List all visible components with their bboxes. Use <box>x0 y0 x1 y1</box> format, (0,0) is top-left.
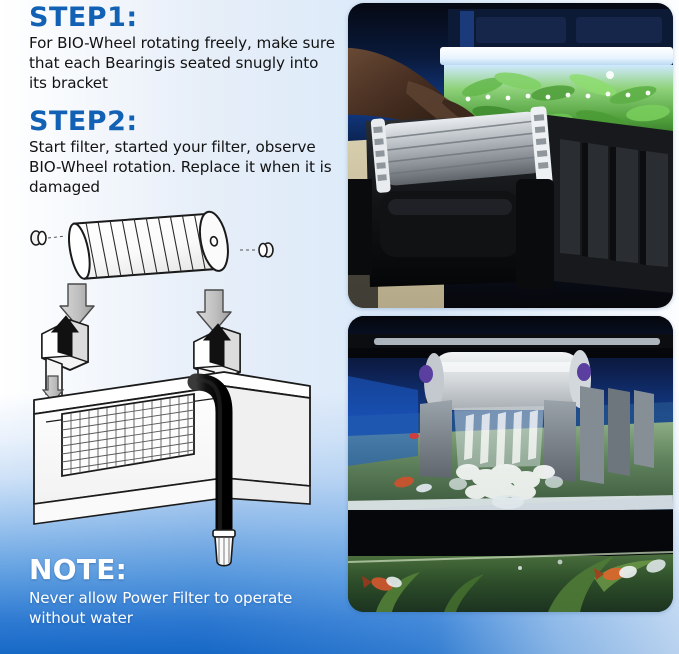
note-heading: NOTE: <box>29 556 127 584</box>
photo-filter-running-in-aquarium <box>348 316 673 612</box>
note-body-text: Never allow Power Filter to operate with… <box>29 588 339 628</box>
step2-heading: STEP2: <box>29 108 138 135</box>
down-arrow-right-icon <box>197 290 231 332</box>
left-text-column: STEP1: For BIO-Wheel rotating freely, ma… <box>0 0 340 654</box>
instruction-card: STEP1: For BIO-Wheel rotating freely, ma… <box>0 0 679 654</box>
intake-strainer-part <box>213 530 235 566</box>
bio-wheel-cylinder-part <box>65 196 232 298</box>
left-bearing-cap <box>31 231 66 245</box>
step1-heading: STEP1: <box>29 4 138 31</box>
right-bearing-cap <box>240 243 273 257</box>
photo-hand-installing-bio-wheel <box>348 3 673 308</box>
step1-body-text: For BIO-Wheel rotating freely, make sure… <box>29 33 339 94</box>
exploded-diagram <box>18 186 318 586</box>
